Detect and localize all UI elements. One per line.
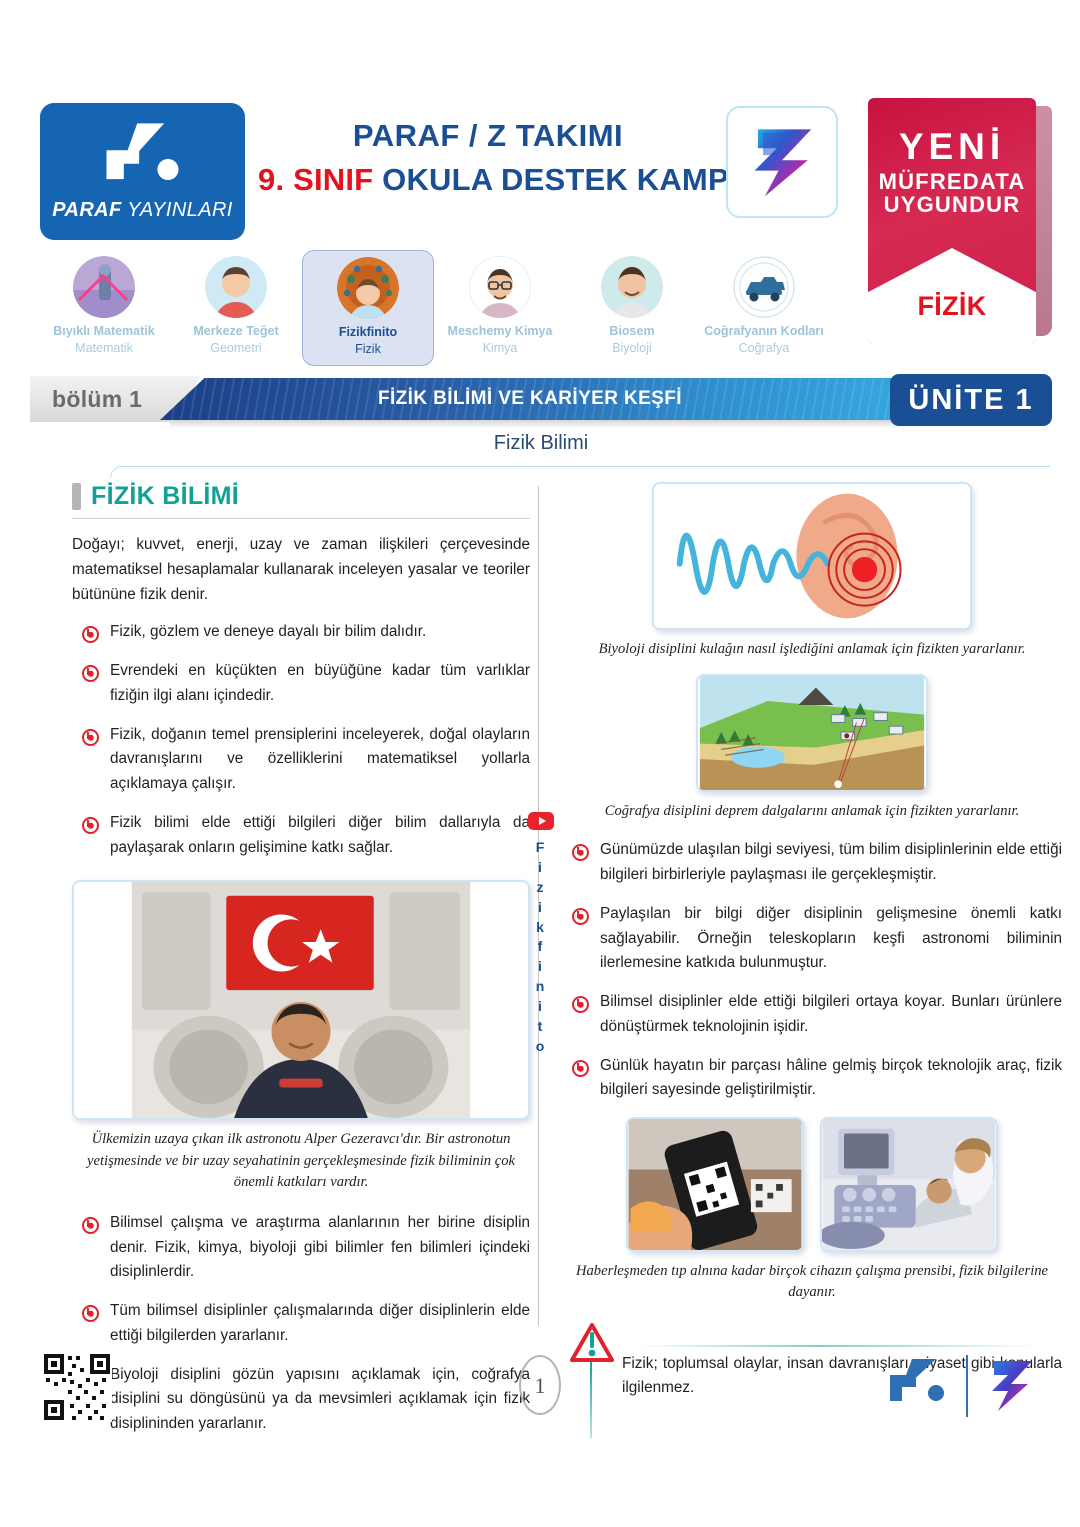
avatar [73, 256, 135, 318]
header-title-line1: PARAF / Z TAKIMI [258, 118, 718, 154]
ribbon-sub-line1: MÜFREDATA [868, 170, 1036, 193]
list-item: Fizik, doğanın temel prensiplerini incel… [72, 723, 530, 797]
teacher-item-cografyanin-kodlari[interactable]: Coğrafyanın Kodları Coğrafya [698, 250, 830, 364]
teacher-name: Coğrafyanın Kodları [700, 324, 828, 340]
subject-line: Fizik Bilimi [30, 432, 1052, 455]
qr-code[interactable] [42, 1352, 112, 1422]
avatar-merkeze-teget-icon [205, 256, 267, 318]
technology-image-row [562, 1117, 1062, 1252]
teacher-subject: Matematik [40, 340, 168, 356]
z-takimi-badge [726, 106, 838, 218]
list-item: Tüm bilimsel disiplinler çalışmalarında … [72, 1299, 530, 1349]
unit-bar-title-band: FİZİK BİLİMİ VE KARİYER KEŞFİ [160, 378, 900, 420]
ribbon-yeni-text: YENİ [868, 126, 1036, 168]
list-item: Günümüzde ulaşılan bilgi seviyesi, tüm b… [562, 838, 1062, 888]
astronaut-image-frame [72, 880, 530, 1120]
astronaut-figure: Ülkemizin uzaya çıkan ilk astronotu Alpe… [72, 880, 530, 1192]
left-bullet-list-1: Fizik, gözlem ve deneye dayalı bir bilim… [72, 620, 530, 860]
avatar [337, 257, 399, 319]
teacher-subject: Coğrafya [700, 340, 828, 356]
z-footer-logo-icon [984, 1357, 1038, 1415]
warning-triangle-icon [570, 1322, 614, 1364]
teacher-subject: Kimya [436, 340, 564, 356]
left-bullet-list-2: Bilimsel çalışma ve araştırma alanlarını… [72, 1211, 530, 1437]
vertical-letter: n [530, 977, 550, 997]
paraf-mark-icon [95, 121, 191, 193]
youtube-play-glyph [539, 817, 546, 825]
teacher-name: Bıyıklı Matematik [40, 324, 168, 340]
avatar [733, 256, 795, 318]
vertical-letter: i [530, 997, 550, 1017]
youtube-icon[interactable] [528, 812, 554, 830]
qr-scan-photo-icon [628, 1119, 802, 1250]
page-header: PARAF YAYINLARI PARAF / Z TAKIMI 9. SINI… [0, 0, 1080, 372]
subject-rule [110, 466, 1050, 478]
vertical-letter: i [530, 957, 550, 977]
teacher-name: Fizikfinito [305, 325, 431, 341]
section-accent-bar [72, 483, 81, 510]
teacher-subject: Geometri [172, 340, 300, 356]
teacher-subject: Fizik [305, 341, 431, 357]
z-logo-icon [739, 119, 825, 205]
section-rule [72, 518, 530, 519]
section-title: FİZİK BİLİMİ [91, 482, 239, 511]
ear-sound-wave-icon [654, 484, 970, 628]
ear-figure: Biyoloji disiplini kulağın nasıl işlediğ… [562, 482, 1062, 660]
list-item: Biyoloji disiplini gözün yapısını açıkla… [72, 1363, 530, 1437]
list-item: Bilimsel disiplinler elde ettiği bilgile… [562, 990, 1062, 1040]
technology-figures: Haberleşmeden tıp alnına kadar birçok ci… [562, 1117, 1062, 1303]
qr-phone-image-frame [626, 1117, 804, 1252]
ear-image-frame [652, 482, 972, 630]
avatar-fizikfinito-icon [337, 257, 399, 319]
ultrasound-photo-icon [822, 1119, 996, 1250]
section-header: FİZİK BİLİMİ [72, 482, 530, 511]
earthquake-image-frame [696, 674, 928, 792]
ultrasound-image-frame [820, 1117, 998, 1252]
list-item: Günlük hayatın bir parçası hâline gelmiş… [562, 1054, 1062, 1104]
astronaut-caption: Ülkemizin uzaya çıkan ilk astronotu Alpe… [72, 1129, 530, 1192]
paraf-footer-logo-icon [886, 1357, 950, 1415]
header-grade: 9. SINIF [258, 162, 373, 197]
teacher-channel-strip: Bıyıklı Matematik Matematik Merkeze Teğe… [38, 250, 848, 362]
footer-separator [966, 1355, 968, 1417]
ribbon-body: YENİ MÜFREDATA UYGUNDUR FİZİK [868, 98, 1036, 344]
vertical-letter: k [530, 918, 550, 938]
yeni-mufredat-ribbon: YENİ MÜFREDATA UYGUNDUR FİZİK [868, 98, 1038, 346]
header-title-block: PARAF / Z TAKIMI 9. SINIF OKULA DESTEK K… [258, 118, 718, 198]
unit-bar-title: FİZİK BİLİMİ VE KARİYER KEŞFİ [378, 388, 682, 410]
worksheet-page: PARAF YAYINLARI PARAF / Z TAKIMI 9. SINI… [0, 0, 1080, 1527]
footer-rule [638, 1345, 1038, 1347]
footer-logos [886, 1355, 1038, 1417]
avatar-biosem-icon [601, 256, 663, 318]
paraf-word-bold: PARAF [52, 199, 121, 221]
list-item: Fizik bilimi elde ettiği bilgileri diğer… [72, 811, 530, 861]
earthquake-caption: Coğrafya disiplini deprem dalgalarını an… [562, 801, 1062, 822]
teacher-item-merkeze-teget[interactable]: Merkeze Teğet Geometri [170, 250, 302, 364]
technology-caption: Haberleşmeden tıp alnına kadar birçok ci… [562, 1261, 1062, 1303]
avatar-cografyanin-kodlari-icon [733, 256, 795, 318]
page-number: 1 [505, 1355, 575, 1417]
paraf-word-light: YAYINLARI [127, 199, 233, 221]
left-column: FİZİK BİLİMİ Doğayı; kuvvet, enerji, uza… [72, 482, 530, 1451]
unit-bar-shadow [170, 420, 900, 428]
teacher-item-meschemy-kimya[interactable]: Meschemy Kimya Kimya [434, 250, 566, 364]
list-item: Evrendeki en küçükten en büyüğüne kadar … [72, 659, 530, 709]
ribbon-sub-text: MÜFREDATA UYGUNDUR [868, 170, 1036, 217]
list-item: Fizik, gözlem ve deneye dayalı bir bilim… [72, 620, 530, 645]
astronaut-photo-icon [74, 882, 528, 1118]
teacher-item-biyikli-matematik[interactable]: Bıyıklı Matematik Matematik [38, 250, 170, 364]
vertical-letter: f [530, 937, 550, 957]
earthquake-figure: Coğrafya disiplini deprem dalgalarını an… [562, 674, 1062, 822]
header-title-line2: 9. SINIF OKULA DESTEK KAMPI [258, 162, 718, 198]
avatar-meschemy-kimya-icon [469, 256, 531, 318]
teacher-name: Merkeze Teğet [172, 324, 300, 340]
ribbon-sub-line2: UYGUNDUR [868, 193, 1036, 216]
avatar [205, 256, 267, 318]
teacher-subject: Biyoloji [568, 340, 696, 356]
teacher-name: Biosem [568, 324, 696, 340]
vertical-letter: t [530, 1017, 550, 1037]
teacher-item-biosem[interactable]: Biosem Biyoloji [566, 250, 698, 364]
warning-stem [590, 1362, 592, 1438]
teacher-name: Meschemy Kimya [436, 324, 564, 340]
avatar [601, 256, 663, 318]
ear-caption: Biyoloji disiplini kulağın nasıl işlediğ… [562, 639, 1062, 660]
avatar-biyikli-matematik-icon [73, 256, 135, 318]
unite-tab: ÜNİTE 1 [890, 374, 1052, 426]
teacher-item-fizikfinito[interactable]: Fizikfinito Fizik [302, 250, 434, 366]
ribbon-subject-text: FİZİK [868, 291, 1036, 322]
unit-bar: bölüm 1 FİZİK BİLİMİ VE KARİYER KEŞFİ ÜN… [30, 374, 1052, 426]
avatar [469, 256, 531, 318]
vertical-brand-text: F i z i k f i n i t o [530, 838, 550, 1057]
vertical-letter: i [530, 898, 550, 918]
paraf-publisher-logo: PARAF YAYINLARI [40, 103, 245, 240]
vertical-letter: i [530, 858, 550, 878]
list-item: Bilimsel çalışma ve araştırma alanlarını… [72, 1211, 530, 1285]
vertical-letter: z [530, 878, 550, 898]
vertical-letter: o [530, 1037, 550, 1057]
list-item: Paylaşılan bir bilgi diğer disiplinin ge… [562, 902, 1062, 976]
header-title-rest: OKULA DESTEK KAMPI [382, 162, 738, 197]
right-bullet-list: Günümüzde ulaşılan bilgi seviyesi, tüm b… [562, 838, 1062, 1103]
right-column: Biyoloji disiplini kulağın nasıl işlediğ… [562, 482, 1062, 1401]
paraf-wordmark: PARAF YAYINLARI [52, 199, 233, 222]
page-number-text: 1 [535, 1373, 546, 1399]
earthquake-terrain-icon [698, 676, 926, 790]
intro-paragraph: Doğayı; kuvvet, enerji, uzay ve zaman il… [72, 533, 530, 607]
vertical-letter: F [530, 838, 550, 858]
